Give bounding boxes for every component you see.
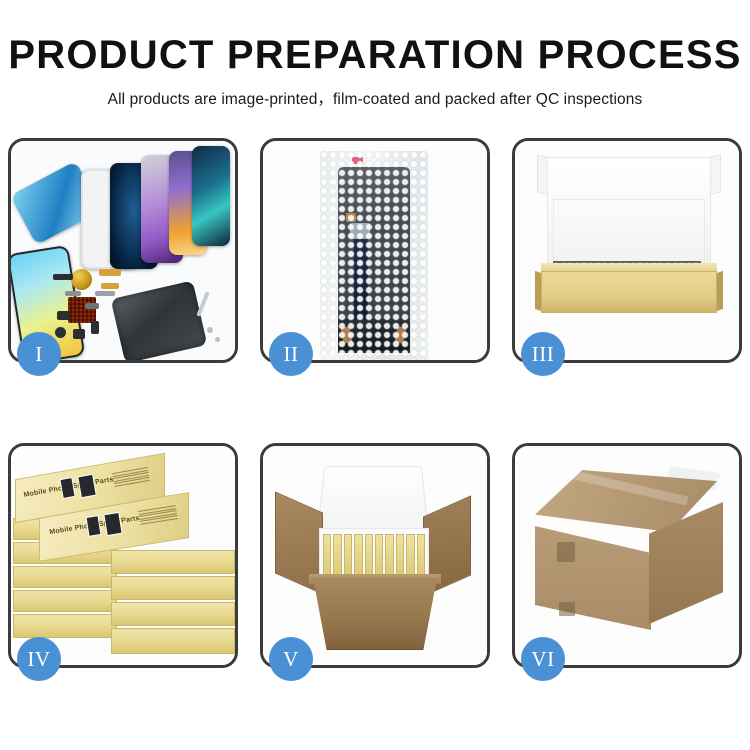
screw-component [207, 327, 213, 333]
retail-box [13, 614, 117, 638]
copper-mesh-component [68, 297, 96, 323]
bubble-wrap-package [320, 151, 428, 360]
process-steps-grid: I II [8, 138, 742, 668]
camera-component [73, 329, 85, 339]
process-step-1: I [8, 138, 238, 363]
page-header: PRODUCT PREPARATION PROCESS All products… [0, 34, 750, 109]
shield-component [85, 303, 99, 309]
tweezers-tool [196, 291, 209, 317]
carton-handle-tab [557, 542, 575, 562]
bracket-component [65, 291, 81, 296]
speaker-component [55, 327, 66, 338]
retail-box [111, 602, 235, 626]
retail-box [111, 628, 235, 654]
box-tray-front [541, 271, 717, 313]
carton-left-face [535, 526, 651, 630]
retail-box [13, 590, 117, 612]
process-step-3: III [512, 138, 742, 363]
shipping-carton-open [313, 578, 437, 650]
lcd-screen-teal [192, 146, 230, 246]
retail-box [111, 576, 235, 600]
page-title: PRODUCT PREPARATION PROCESS [0, 34, 750, 76]
chip-component [57, 311, 70, 320]
screen-graphic [103, 512, 122, 536]
step-1-image [11, 141, 235, 360]
step-4-image: Mobile Phone Spare Parts Mobile Phone Sp… [11, 446, 235, 665]
step-3-image [515, 141, 739, 360]
foam-lid [317, 466, 428, 529]
step-badge-5: V [269, 637, 313, 681]
retail-box-stack: Mobile Phone Spare Parts Mobile Phone Sp… [11, 446, 235, 665]
step-2-image [263, 141, 487, 360]
flex-cable-component [99, 269, 121, 276]
carton-handle-tab [559, 602, 575, 616]
process-step-6: VI [512, 443, 742, 668]
step-6-image [515, 446, 739, 665]
step-badge-2: II [269, 332, 313, 376]
phone-chassis-teardown [111, 280, 208, 360]
process-step-4: Mobile Phone Spare Parts Mobile Phone Sp… [8, 443, 238, 668]
screw-component [215, 337, 220, 342]
step-badge-4: IV [17, 637, 61, 681]
retail-box [111, 550, 235, 574]
product-preparation-page: PRODUCT PREPARATION PROCESS All products… [0, 0, 750, 750]
coil-component [71, 269, 92, 290]
process-step-5: V [260, 443, 490, 668]
flex-cable-component [101, 283, 119, 289]
bubble-wrap-texture [320, 151, 428, 360]
button-component [91, 321, 99, 334]
process-step-2: II [260, 138, 490, 363]
step-badge-3: III [521, 332, 565, 376]
step-5-image [263, 446, 487, 665]
step-badge-1: I [17, 332, 61, 376]
antenna-component [95, 291, 115, 296]
step-badge-6: VI [521, 637, 565, 681]
retail-box [13, 566, 117, 588]
retail-boxes-inside [323, 534, 425, 576]
chip-component [53, 274, 73, 280]
page-subtitle: All products are image-printed，film-coat… [0, 87, 750, 109]
